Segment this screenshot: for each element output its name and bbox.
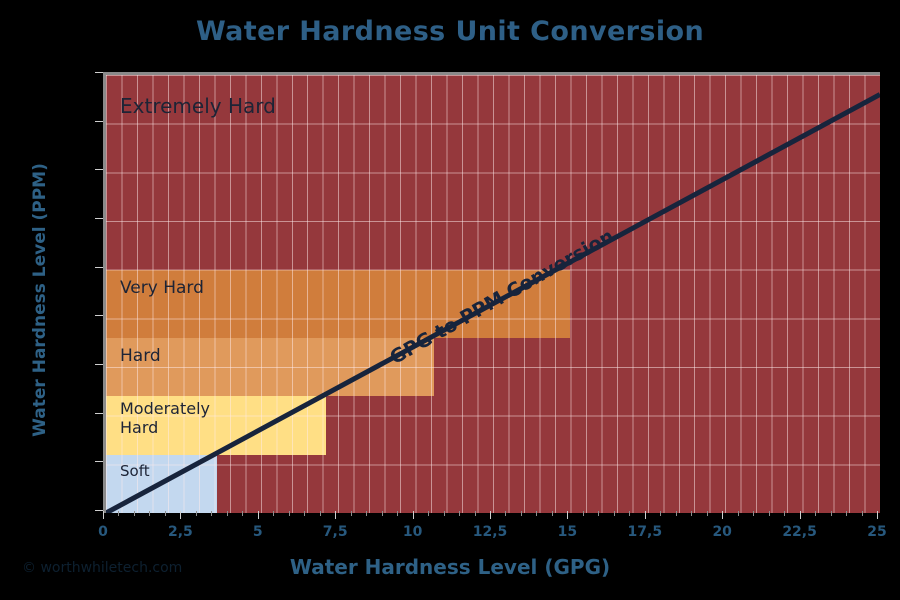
band-label-moderately-hard: ModeratelyHard xyxy=(120,400,210,438)
x-tick-minor xyxy=(738,511,739,516)
x-tick-minor xyxy=(304,511,305,516)
y-tick-mark xyxy=(95,72,103,73)
band-label-extremely-hard: Extremely Hard xyxy=(120,95,276,119)
x-tick-minor xyxy=(707,511,708,516)
x-tick-minor xyxy=(660,511,661,516)
x-tick-minor xyxy=(521,511,522,516)
plot-area: GPG to PPM Conversion Extremely Hard Ver… xyxy=(103,72,880,513)
x-tick-minor xyxy=(397,511,398,516)
x-tick-label: 22,5 xyxy=(782,524,817,540)
y-tick-mark xyxy=(95,267,103,268)
x-tick-minor xyxy=(366,511,367,516)
x-tick-minor xyxy=(149,511,150,516)
x-tick-minor xyxy=(753,511,754,516)
x-tick-minor xyxy=(382,511,383,516)
x-tick-minor xyxy=(227,511,228,516)
band-label-very-hard: Very Hard xyxy=(120,278,204,298)
y-tick-mark xyxy=(95,121,103,122)
x-tick-minor xyxy=(614,511,615,516)
x-tick-minor xyxy=(242,511,243,516)
x-tick-minor xyxy=(134,511,135,516)
x-tick-label: 20 xyxy=(712,524,731,540)
x-tick-minor xyxy=(598,511,599,516)
chart-figure: Water Hardness Unit Conversion Water Har… xyxy=(0,0,900,600)
x-tick-minor xyxy=(676,511,677,516)
x-tick-minor xyxy=(769,511,770,516)
x-tick-minor xyxy=(505,511,506,516)
x-tick-label: 15 xyxy=(558,524,577,540)
x-tick-minor xyxy=(165,511,166,516)
x-tick-minor xyxy=(831,511,832,516)
x-tick-label: 25 xyxy=(867,524,886,540)
x-tick-mark xyxy=(180,511,181,519)
y-tick-mark xyxy=(95,461,103,462)
x-tick-label: 2,5 xyxy=(168,524,193,540)
x-tick-mark xyxy=(877,511,878,519)
x-tick-mark xyxy=(490,511,491,519)
x-tick-mark xyxy=(103,511,104,519)
x-tick-minor xyxy=(196,511,197,516)
x-tick-minor xyxy=(351,511,352,516)
band-label-hard: Hard xyxy=(120,346,161,366)
x-tick-minor xyxy=(289,511,290,516)
x-tick-minor xyxy=(320,511,321,516)
y-tick-mark xyxy=(95,364,103,365)
x-tick-minor xyxy=(536,511,537,516)
x-tick-label: 5 xyxy=(253,524,263,540)
x-tick-minor xyxy=(428,511,429,516)
x-tick-minor xyxy=(475,511,476,516)
x-tick-label: 12,5 xyxy=(473,524,508,540)
x-tick-mark xyxy=(800,511,801,519)
x-tick-mark xyxy=(645,511,646,519)
x-tick-minor xyxy=(846,511,847,516)
x-tick-mark xyxy=(722,511,723,519)
x-tick-mark xyxy=(567,511,568,519)
y-tick-mark xyxy=(95,510,103,511)
x-tick-minor xyxy=(211,511,212,516)
x-tick-minor xyxy=(583,511,584,516)
x-tick-label: 7,5 xyxy=(323,524,348,540)
x-tick-mark xyxy=(413,511,414,519)
x-tick-minor xyxy=(459,511,460,516)
page-title: Water Hardness Unit Conversion xyxy=(0,16,900,47)
y-tick-mark xyxy=(95,315,103,316)
x-tick-minor xyxy=(691,511,692,516)
x-tick-minor xyxy=(629,511,630,516)
x-tick-label: 10 xyxy=(403,524,422,540)
x-tick-minor xyxy=(862,511,863,516)
x-tick-mark xyxy=(335,511,336,519)
x-tick-minor xyxy=(784,511,785,516)
y-tick-mark xyxy=(95,218,103,219)
y-tick-mark xyxy=(95,169,103,170)
x-tick-minor xyxy=(118,511,119,516)
x-tick-minor xyxy=(273,511,274,516)
x-tick-minor xyxy=(444,511,445,516)
band-label-soft: Soft xyxy=(120,463,150,481)
x-tick-minor xyxy=(552,511,553,516)
x-tick-mark xyxy=(258,511,259,519)
y-axis-title: Water Hardness Level (PPM) xyxy=(30,90,50,510)
x-tick-minor xyxy=(815,511,816,516)
x-tick-label: 0 xyxy=(98,524,108,540)
y-tick-mark xyxy=(95,413,103,414)
x-tick-label: 17,5 xyxy=(628,524,663,540)
watermark: © worthwhiletech.com xyxy=(22,560,182,576)
